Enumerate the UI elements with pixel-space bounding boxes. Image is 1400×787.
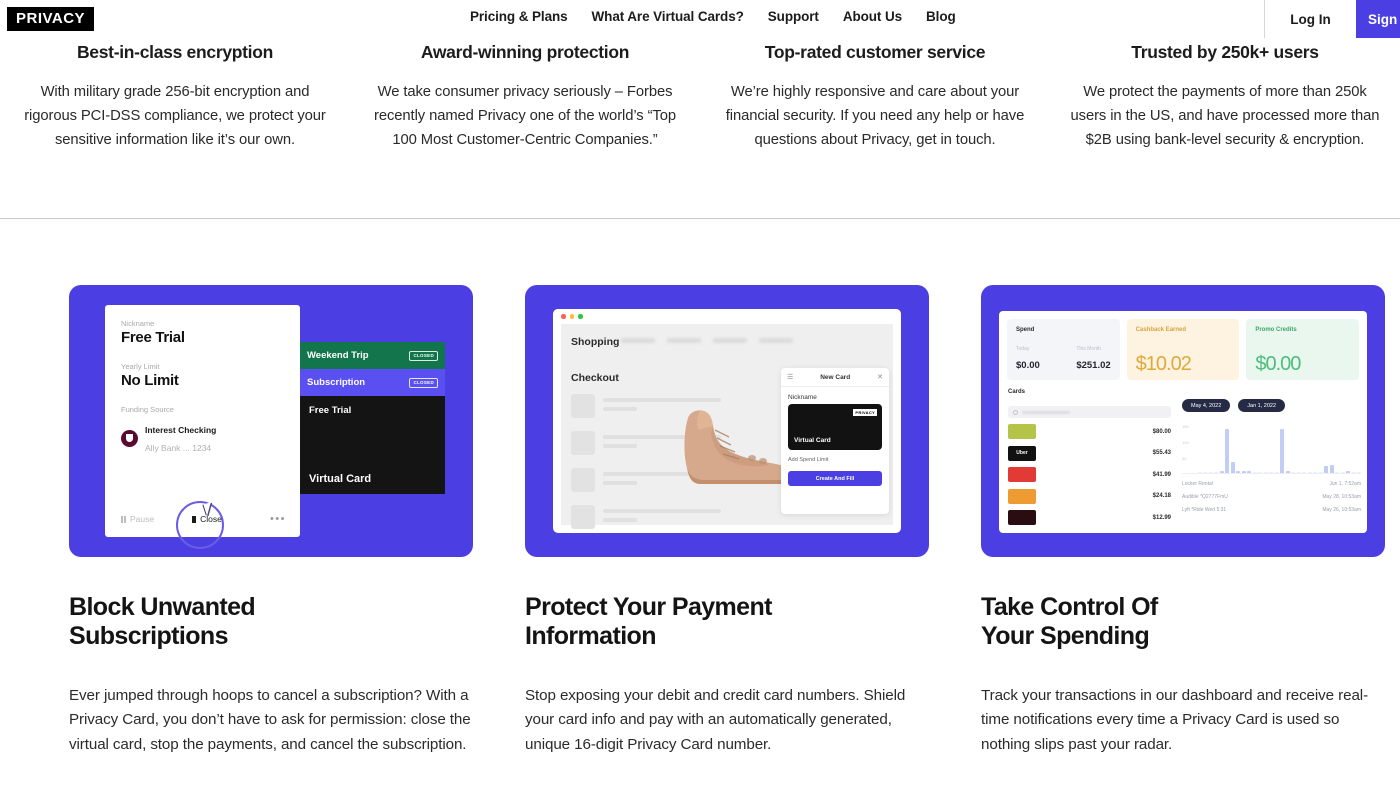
transaction-list: Locker Rental Jun 1, 7:52am Audible *Q27… bbox=[1182, 481, 1361, 513]
card-amount: $55.43 bbox=[1153, 450, 1171, 456]
card-amount: $24.18 bbox=[1153, 493, 1171, 499]
stat-sublabel-month: This Month bbox=[1076, 346, 1101, 352]
chart-bar bbox=[1280, 429, 1284, 473]
feature-block-spending: Spend Today $0.00 This Month $251.02 bbox=[981, 285, 1385, 757]
nav-item-pricing[interactable]: Pricing & Plans bbox=[470, 9, 568, 24]
checkout-item bbox=[571, 505, 749, 529]
focus-ring bbox=[176, 501, 224, 549]
chart-bar bbox=[1324, 466, 1328, 473]
pause-icon bbox=[121, 516, 126, 523]
spending-bar-chart: 150 100 50 bbox=[1182, 422, 1361, 474]
trust-body: We’re highly responsive and care about y… bbox=[718, 81, 1032, 153]
screenshot-dashboard: Spend Today $0.00 This Month $251.02 bbox=[981, 285, 1385, 557]
chart-bar bbox=[1286, 471, 1290, 473]
chart-bar bbox=[1220, 471, 1224, 473]
search-placeholder bbox=[1022, 411, 1070, 414]
date-range-pills: May 4, 2022 Jan 1, 2022 bbox=[1182, 399, 1361, 412]
nickname-value: Free Trial bbox=[121, 329, 284, 346]
card-row[interactable]: $12.99 bbox=[1008, 510, 1171, 525]
site-title: Shopping bbox=[571, 336, 619, 348]
chart-bar bbox=[1264, 472, 1268, 474]
chart-bar bbox=[1242, 471, 1246, 473]
privacy-logo[interactable]: PRIVACY bbox=[7, 7, 94, 31]
stat-cards: Spend Today $0.00 This Month $251.02 bbox=[999, 311, 1367, 380]
page-body: Shopping Checkout bbox=[561, 324, 893, 525]
date-pill-start[interactable]: May 4, 2022 bbox=[1182, 399, 1230, 412]
chart-bar bbox=[1308, 472, 1312, 474]
date-pill-end[interactable]: Jan 1, 2022 bbox=[1238, 399, 1285, 412]
trust-column-protection: Award-winning protection We take consume… bbox=[350, 42, 700, 153]
browser-titlebar bbox=[553, 309, 901, 324]
yearly-limit-label: Yearly Limit bbox=[121, 362, 284, 371]
trust-title: Award-winning protection bbox=[368, 42, 682, 63]
trust-body: We take consumer privacy seriously – For… bbox=[368, 81, 682, 153]
nav-item-what-are-virtual-cards[interactable]: What Are Virtual Cards? bbox=[592, 9, 744, 24]
checkout-title: Checkout bbox=[571, 372, 619, 384]
item-thumbnail bbox=[571, 468, 595, 492]
stat-card-promo: Promo Credits $0.00 bbox=[1246, 319, 1359, 380]
chart-bar bbox=[1236, 471, 1240, 473]
item-thumbnail bbox=[571, 394, 595, 418]
stat-card-cashback: Cashback Earned $10.02 bbox=[1127, 319, 1240, 380]
section-divider bbox=[0, 218, 1400, 219]
virtual-card-visual: PRIVACY Virtual Card bbox=[788, 404, 882, 450]
site-nav-placeholder bbox=[621, 338, 793, 343]
feature-block-payment-info: Shopping Checkout bbox=[525, 285, 929, 757]
card-list: Weekend Trip CLOSED Subscription CLOSED … bbox=[300, 342, 445, 494]
panel-menu-icon[interactable]: ☰ bbox=[787, 373, 793, 381]
nav-item-support[interactable]: Support bbox=[768, 9, 819, 24]
card-row[interactable]: $41.99 bbox=[1008, 467, 1171, 482]
chart-bar bbox=[1203, 472, 1207, 474]
stat-card-spend: Spend Today $0.00 This Month $251.02 bbox=[1007, 319, 1120, 380]
create-and-fill-button[interactable]: Create And Fill bbox=[788, 471, 882, 486]
card-amount: $12.99 bbox=[1153, 515, 1171, 521]
spend-values: Today $0.00 This Month $251.02 bbox=[1016, 337, 1111, 373]
login-button[interactable]: Log In bbox=[1264, 0, 1356, 38]
item-thumbnail bbox=[571, 431, 595, 455]
stat-value: $0.00 bbox=[1255, 353, 1300, 376]
trust-column-users: Trusted by 250k+ users We protect the pa… bbox=[1050, 42, 1400, 153]
pause-label: Pause bbox=[130, 514, 154, 524]
merchant-logo: Uber bbox=[1008, 446, 1036, 461]
screenshot-card-detail: Nickname Free Trial Yearly Limit No Limi… bbox=[69, 285, 473, 557]
transaction-row[interactable]: Locker Rental Jun 1, 7:52am bbox=[1182, 481, 1361, 487]
card-actions: Pause Close ••• bbox=[121, 513, 286, 525]
funding-source-label: Funding Source bbox=[121, 405, 284, 414]
transaction-time: May 28, 10:53am bbox=[1322, 494, 1361, 500]
card-amount: $41.99 bbox=[1153, 472, 1171, 478]
chart-bar bbox=[1209, 472, 1213, 474]
y-axis-tick: 150 bbox=[1182, 424, 1189, 429]
feature-heading: Block Unwanted Subscriptions bbox=[69, 593, 473, 651]
chart-bar bbox=[1357, 472, 1361, 474]
card-type: Virtual Card bbox=[309, 473, 371, 485]
feature-body: Stop exposing your debit and credit card… bbox=[525, 684, 929, 758]
trust-columns: Best-in-class encryption With military g… bbox=[0, 42, 1400, 153]
nickname-label: Nickname bbox=[788, 394, 889, 401]
stat-value-today: $0.00 bbox=[1016, 360, 1040, 371]
merchant-logo bbox=[1008, 424, 1036, 439]
screenshot-checkout: Shopping Checkout bbox=[525, 285, 929, 557]
card-row[interactable]: Uber $55.43 bbox=[1008, 446, 1171, 461]
card-list: $80.00 Uber $55.43 bbox=[1008, 406, 1171, 532]
nav-item-blog[interactable]: Blog bbox=[926, 9, 956, 24]
pause-button[interactable]: Pause bbox=[121, 514, 154, 524]
chart-bar bbox=[1291, 472, 1295, 474]
yearly-limit-value: No Limit bbox=[121, 372, 284, 389]
chart-bar bbox=[1319, 472, 1323, 474]
chart-bar bbox=[1302, 472, 1306, 474]
site-header: PRIVACY Pricing & Plans What Are Virtual… bbox=[0, 0, 1400, 38]
stat-label: Spend bbox=[1016, 327, 1111, 333]
trust-column-encryption: Best-in-class encryption With military g… bbox=[0, 42, 350, 153]
feature-body: Track your transactions in our dashboard… bbox=[981, 684, 1385, 758]
funding-source-name: Interest Checking bbox=[145, 425, 216, 435]
nav-placeholder-item bbox=[713, 338, 747, 343]
nav-placeholder-item bbox=[621, 338, 655, 343]
close-icon[interactable]: ✕ bbox=[877, 373, 883, 381]
ally-bank-icon bbox=[121, 430, 138, 447]
nickname-label: Nickname bbox=[121, 319, 284, 328]
chart-bar bbox=[1214, 472, 1218, 474]
add-spend-limit-link[interactable]: Add Spend Limit bbox=[788, 457, 889, 463]
transaction-time: Jun 1, 7:52am bbox=[1329, 481, 1361, 487]
search-icon bbox=[1013, 410, 1018, 415]
chart-bar bbox=[1269, 472, 1273, 474]
feature-heading: Protect Your Payment Information bbox=[525, 593, 929, 651]
chart-bar bbox=[1231, 462, 1235, 474]
card-type-label: Virtual Card bbox=[794, 437, 831, 444]
chart-bar bbox=[1225, 429, 1229, 473]
stat-label: Cashback Earned bbox=[1136, 327, 1231, 333]
funding-source-account: Ally Bank ... 1234 bbox=[145, 443, 211, 453]
dashboard-window: Spend Today $0.00 This Month $251.02 bbox=[999, 311, 1367, 533]
chart-bar bbox=[1253, 472, 1257, 474]
transaction-merchant: Lyft *Ride Wed 5:31 bbox=[1182, 507, 1226, 513]
chart-bar bbox=[1341, 472, 1345, 474]
stat-value: $10.02 bbox=[1136, 353, 1191, 376]
privacy-brand-mark: PRIVACY bbox=[853, 409, 877, 416]
cards-section-label: Cards bbox=[1008, 389, 1367, 395]
card-amount: $80.00 bbox=[1153, 429, 1171, 435]
chart-bar bbox=[1275, 472, 1279, 474]
chart-bars bbox=[1198, 425, 1361, 473]
chart-bar bbox=[1258, 472, 1262, 474]
trust-body: With military grade 256-bit encryption a… bbox=[18, 81, 332, 153]
item-lines bbox=[603, 505, 721, 529]
card-list-item[interactable]: Subscription CLOSED bbox=[300, 369, 445, 396]
main-nav: Pricing & Plans What Are Virtual Cards? … bbox=[470, 9, 956, 24]
traffic-light-zoom-icon[interactable] bbox=[578, 314, 583, 319]
chart-bar bbox=[1346, 471, 1350, 473]
status-badge: CLOSED bbox=[409, 378, 438, 388]
chart-bar bbox=[1330, 465, 1334, 473]
chart-bar bbox=[1297, 472, 1301, 474]
nav-placeholder-item bbox=[759, 338, 793, 343]
transaction-time: May 26, 10:53am bbox=[1322, 507, 1361, 513]
merchant-logo bbox=[1008, 489, 1036, 504]
transaction-row[interactable]: Lyft *Ride Wed 5:31 May 26, 10:53am bbox=[1182, 507, 1361, 513]
item-thumbnail bbox=[571, 505, 595, 529]
trust-body: We protect the payments of more than 250… bbox=[1068, 81, 1382, 153]
merchant-logo bbox=[1008, 510, 1036, 525]
panel-title: New Card bbox=[820, 374, 850, 381]
traffic-light-minimize-icon[interactable] bbox=[570, 314, 575, 319]
card-row[interactable]: $80.00 bbox=[1008, 424, 1171, 439]
stat-value-month: $251.02 bbox=[1076, 360, 1110, 371]
feature-cards: Nickname Free Trial Yearly Limit No Limi… bbox=[69, 285, 1393, 757]
trust-title: Best-in-class encryption bbox=[18, 42, 332, 63]
y-axis-tick: 50 bbox=[1182, 456, 1186, 461]
card-search-input[interactable] bbox=[1008, 406, 1171, 418]
chart-bar bbox=[1335, 472, 1339, 474]
card-row[interactable]: $24.18 bbox=[1008, 489, 1171, 504]
nav-item-about-us[interactable]: About Us bbox=[843, 9, 902, 24]
card-name: Free Trial bbox=[309, 405, 436, 416]
stat-label: Promo Credits bbox=[1255, 327, 1350, 333]
status-badge: CLOSED bbox=[409, 351, 438, 361]
feature-heading: Take Control Of Your Spending bbox=[981, 593, 1385, 651]
chart-bar bbox=[1352, 472, 1356, 474]
chart-bar bbox=[1247, 471, 1251, 473]
y-axis-tick: 100 bbox=[1182, 440, 1189, 445]
browser-window: Shopping Checkout bbox=[553, 309, 901, 533]
spending-chart-area: May 4, 2022 Jan 1, 2022 150 100 50 Locke… bbox=[1182, 399, 1361, 520]
traffic-light-close-icon[interactable] bbox=[561, 314, 566, 319]
trust-column-customer-service: Top-rated customer service We’re highly … bbox=[700, 42, 1050, 153]
card-list-item[interactable]: Weekend Trip CLOSED bbox=[300, 342, 445, 369]
trust-title: Top-rated customer service bbox=[718, 42, 1032, 63]
stat-sublabel-today: Today bbox=[1016, 346, 1029, 352]
funding-source-row: Interest Checking Ally Bank ... 1234 bbox=[121, 420, 284, 456]
transaction-merchant: Locker Rental bbox=[1182, 481, 1213, 487]
feature-block-subscriptions: Nickname Free Trial Yearly Limit No Limi… bbox=[69, 285, 473, 757]
transaction-merchant: Audible *Q2777FmU bbox=[1182, 494, 1228, 500]
merchant-logo bbox=[1008, 467, 1036, 482]
more-options-icon[interactable]: ••• bbox=[270, 513, 286, 525]
panel-header: ☰ New Card ✕ bbox=[781, 368, 889, 387]
card-name: Weekend Trip bbox=[307, 350, 369, 361]
header-actions: Log In Sign Up bbox=[1264, 0, 1400, 38]
nav-placeholder-item bbox=[667, 338, 701, 343]
transaction-row[interactable]: Audible *Q2777FmU May 28, 10:53am bbox=[1182, 494, 1361, 500]
signup-button[interactable]: Sign Up bbox=[1356, 0, 1400, 38]
card-name: Subscription bbox=[307, 377, 365, 388]
chart-bar bbox=[1313, 472, 1317, 474]
feature-body: Ever jumped through hoops to cancel a su… bbox=[69, 684, 473, 758]
virtual-card-detail-panel: Nickname Free Trial Yearly Limit No Limi… bbox=[105, 305, 300, 537]
trust-title: Trusted by 250k+ users bbox=[1068, 42, 1382, 63]
chart-bar bbox=[1198, 472, 1202, 474]
card-list-item-selected[interactable]: Free Trial Virtual Card bbox=[300, 396, 445, 494]
new-card-panel: ☰ New Card ✕ Nickname PRIVACY Virtual Ca… bbox=[781, 368, 889, 514]
